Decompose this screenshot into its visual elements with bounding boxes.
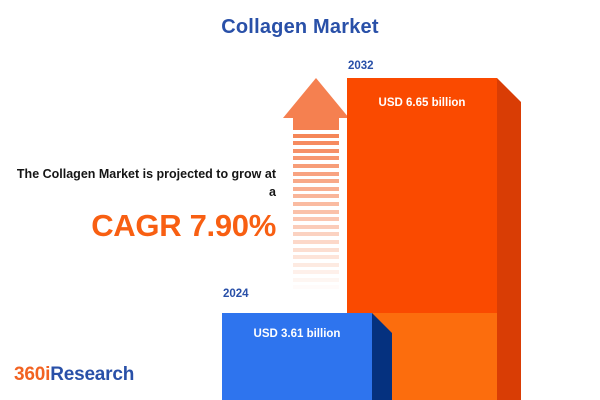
brand-logo-prefix: 360i <box>14 364 50 385</box>
brand-logo-suffix: Research <box>50 364 134 385</box>
arrow-stripe <box>293 240 339 244</box>
arrow-stripe <box>293 156 339 160</box>
arrow-stripe <box>293 149 339 153</box>
page-title: Collagen Market <box>0 16 600 39</box>
arrow-stripe <box>293 270 339 274</box>
cagr-value-text: CAGR 7.90% <box>14 208 278 244</box>
arrow-stripe <box>293 232 339 236</box>
cagr-statement-block: The Collagen Market is projected to grow… <box>14 166 278 244</box>
bar-label-2032: 2032 <box>348 60 374 72</box>
cagr-lead-text: The Collagen Market is projected to grow… <box>14 166 278 202</box>
arrow-stripe <box>293 172 339 176</box>
arrow-stripe <box>293 248 339 252</box>
arrow-stripe <box>293 126 339 130</box>
bar-2024 <box>222 313 372 400</box>
bar-value-2032: USD 6.65 billion <box>347 97 497 109</box>
arrow-stripe <box>293 164 339 168</box>
arrow-stripe <box>293 134 339 138</box>
arrow-stripe <box>293 210 339 214</box>
arrow-stripe <box>293 263 339 267</box>
arrow-stripe <box>293 225 339 229</box>
bar-2032-side-face <box>497 78 521 400</box>
infographic-canvas: Collagen Market The Collagen Market is p… <box>0 0 600 400</box>
arrow-head-icon <box>283 78 349 118</box>
arrow-stripe <box>293 255 339 259</box>
brand-logo: 360iResearch <box>14 364 134 386</box>
arrow-stripe <box>293 285 339 289</box>
arrow-stripe-gradient <box>293 126 339 294</box>
arrow-stripe <box>293 202 339 206</box>
bar-2024-front <box>222 313 372 400</box>
arrow-stripe <box>293 217 339 221</box>
bar-label-2024: 2024 <box>223 288 249 300</box>
arrow-stripe <box>293 194 339 198</box>
arrow-stripe <box>293 179 339 183</box>
growth-arrow-icon <box>283 78 349 294</box>
arrow-shaft-top <box>293 116 339 126</box>
bar-value-2024: USD 3.61 billion <box>222 328 372 340</box>
arrow-stripe <box>293 187 339 191</box>
bar-2024-side-face <box>372 313 392 400</box>
arrow-stripe <box>293 141 339 145</box>
arrow-stripe <box>293 278 339 282</box>
bar-2032-front-upper <box>347 78 497 313</box>
